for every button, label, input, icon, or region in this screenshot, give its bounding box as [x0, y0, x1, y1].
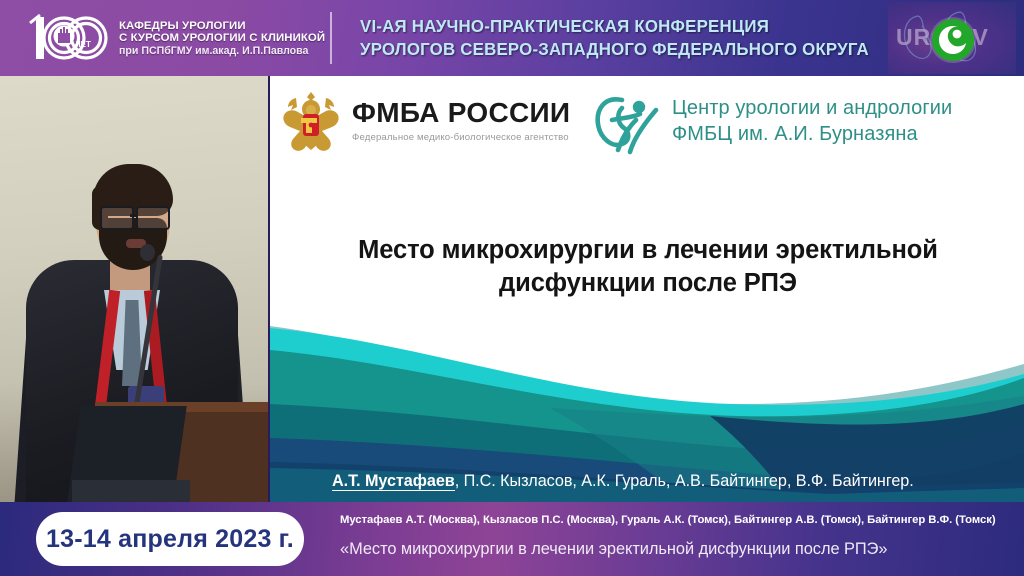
footer-bar: 13-14 апреля 2023 г. Мустафаев А.Т. (Мос…: [0, 502, 1024, 576]
microphone-head-icon: [140, 244, 155, 261]
conference-title-line-1: VI-АЯ НАУЧНО-ПРАКТИЧЕСКАЯ КОНФЕРЕНЦИЯ: [360, 15, 874, 38]
conference-title-line-2: УРОЛОГОВ СЕВЕРО-ЗАПАДНОГО ФЕДЕРАЛЬНОГО О…: [360, 38, 874, 61]
footer-caption-authors: Мустафаев А.Т. (Москва), Кызласов П.С. (…: [340, 514, 1020, 526]
department-logo-group: ЛЕТ КАФЕДРЫ УРОЛОГИИ С КУРСОМ УРОЛОГИИ С…: [22, 4, 308, 72]
speaker-video-feed[interactable]: [0, 76, 268, 502]
presentation-slide[interactable]: ФМБА РОССИИ Федеральное медико-биологиче…: [270, 76, 1024, 502]
urology-center-figure-icon: [590, 84, 664, 160]
center-urology-line-2: ФМБЦ им. А.И. Бурназяна: [672, 122, 952, 148]
center-urology-logo-group: Центр урологии и андрологии ФМБЦ им. А.И…: [590, 84, 952, 160]
slide-title-line-2: дисфункции после РПЭ: [298, 267, 998, 300]
conference-title: VI-АЯ НАУЧНО-ПРАКТИЧЕСКАЯ КОНФЕРЕНЦИЯ УР…: [360, 8, 890, 68]
header-divider: [330, 12, 332, 64]
department-name: КАФЕДРЫ УРОЛОГИИ С КУРСОМ УРОЛОГИИ С КЛИ…: [119, 18, 325, 57]
urotv-broadcaster-logo[interactable]: URO TV: [888, 2, 1016, 74]
slide-title: Место микрохирургии в лечении эректильно…: [298, 234, 998, 300]
conference-header-banner: ЛЕТ КАФЕДРЫ УРОЛОГИИ С КУРСОМ УРОЛОГИИ С…: [0, 0, 1024, 76]
footer-caption-title: «Место микрохирургии в лечении эректильн…: [340, 540, 1020, 559]
fmba-text: ФМБА РОССИИ Федеральное медико-биологиче…: [352, 99, 570, 143]
department-line-3: при ПСПбГМУ им.акад. И.П.Павлова: [119, 46, 325, 57]
anniversary-years-label: ЛЕТ: [75, 40, 91, 49]
podium-keyboard: [72, 480, 190, 502]
department-line-2: С КУРСОМ УРОЛОГИИ С КЛИНИКОЙ: [119, 32, 325, 44]
russian-double-eagle-icon: [280, 88, 342, 154]
department-line-1: КАФЕДРЫ УРОЛОГИИ: [119, 20, 325, 32]
speaker-glasses-right-lens: [136, 206, 170, 230]
slide-authors-line: А.Т. Мустафаев, П.С. Кызласов, А.К. Гура…: [332, 472, 1024, 491]
fmba-title: ФМБА РОССИИ: [352, 99, 570, 127]
broadcast-player: ЛЕТ КАФЕДРЫ УРОЛОГИИ С КУРСОМ УРОЛОГИИ С…: [0, 0, 1024, 576]
anniversary-100-years-icon: ЛЕТ: [22, 9, 110, 67]
center-urology-text: Центр урологии и андрологии ФМБЦ им. А.И…: [672, 96, 952, 147]
slide-author-highlighted: А.Т. Мустафаев: [332, 472, 455, 491]
slide-logo-row: ФМБА РОССИИ Федеральное медико-биологиче…: [270, 76, 1024, 166]
center-urology-line-1: Центр урологии и андрологии: [672, 96, 952, 122]
slide-title-line-1: Место микрохирургии в лечении эректильно…: [298, 234, 998, 267]
urotv-green-badge-icon: [932, 19, 974, 61]
fmba-subtitle: Федеральное медико-биологическое агентст…: [352, 132, 570, 143]
conference-date-badge: 13-14 апреля 2023 г.: [36, 512, 304, 566]
slide-authors-rest: , П.С. Кызласов, А.К. Гураль, А.В. Байти…: [455, 472, 914, 490]
speaker-glasses-left-lens: [100, 206, 134, 230]
fmba-logo-group: ФМБА РОССИИ Федеральное медико-биологиче…: [280, 88, 570, 154]
conference-date-text: 13-14 апреля 2023 г.: [46, 525, 294, 554]
speaker-glasses-bridge: [130, 214, 137, 217]
